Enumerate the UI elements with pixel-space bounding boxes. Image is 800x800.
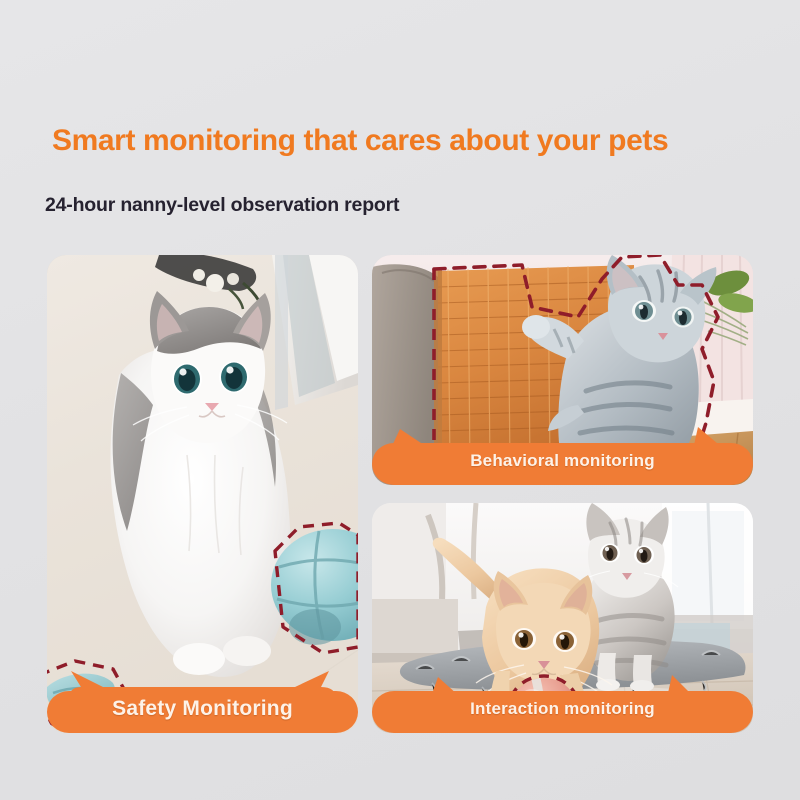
safety-monitoring-panel[interactable]: Safety Monitoring bbox=[47, 255, 358, 733]
behavioral-monitoring-panel[interactable]: Behavioral monitoring bbox=[372, 255, 753, 485]
safety-monitoring-label: Safety Monitoring bbox=[47, 685, 358, 733]
safety-monitoring-banner[interactable]: Safety Monitoring bbox=[47, 671, 358, 733]
page-title: Smart monitoring that cares about your p… bbox=[52, 124, 668, 158]
interaction-monitoring-banner[interactable]: Interaction monitoring bbox=[372, 671, 753, 733]
interaction-monitoring-label: Interaction monitoring bbox=[372, 685, 753, 733]
promo-page: Smart monitoring that cares about your p… bbox=[0, 0, 800, 800]
behavioral-monitoring-banner[interactable]: Behavioral monitoring bbox=[372, 423, 753, 485]
safety-monitoring-photo bbox=[47, 255, 358, 733]
interaction-monitoring-panel[interactable]: Interaction monitoring bbox=[372, 503, 753, 733]
page-subtitle: 24-hour nanny-level observation report bbox=[45, 194, 399, 217]
behavioral-monitoring-label: Behavioral monitoring bbox=[372, 437, 753, 485]
